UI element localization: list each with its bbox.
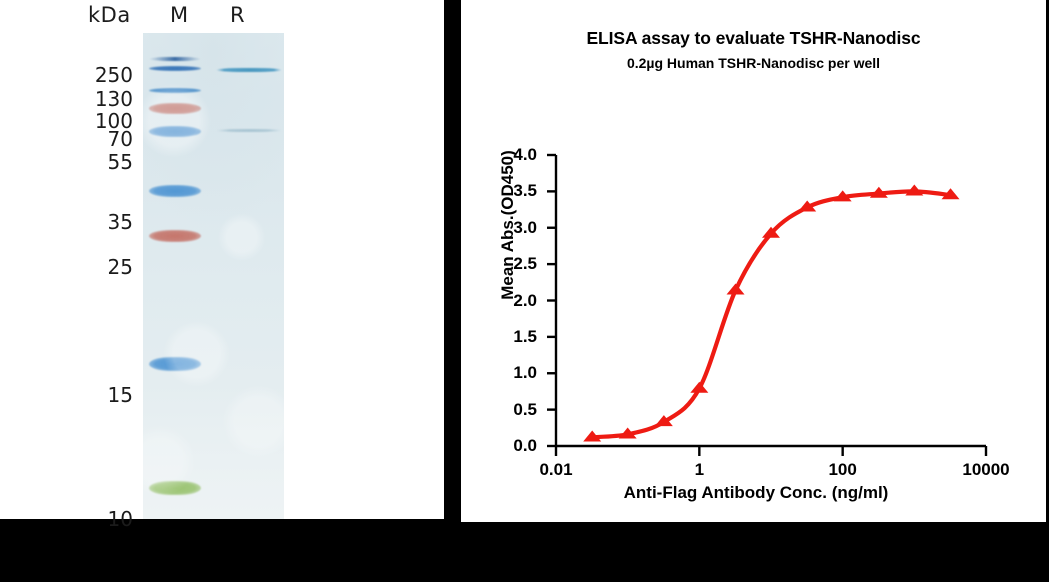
y-tick-label-1.5: 1.5 — [481, 328, 537, 345]
ladder-label-55: 55 — [108, 152, 133, 172]
gel-units-label: kDa — [88, 3, 131, 27]
elisa-plot-svg — [461, 0, 1046, 522]
ladder-label-35: 35 — [108, 212, 133, 232]
marker-band-10kda — [149, 481, 201, 495]
gel-lane-label-marker: M — [170, 3, 189, 27]
sample-band-130kda — [216, 68, 282, 72]
ladder-label-70: 70 — [108, 129, 133, 149]
elisa-chart-panel: ELISA assay to evaluate TSHR-Nanodisc 0.… — [461, 0, 1046, 522]
x-tick-label-10000: 10000 — [946, 461, 1026, 478]
ladder-label-10: 10 — [108, 509, 133, 529]
ladder-label-250: 250 — [95, 65, 133, 85]
ladder-label-25: 25 — [108, 257, 133, 277]
marker-band-15kda — [149, 357, 201, 371]
y-tick-label-3.5: 3.5 — [481, 182, 537, 199]
marker-band-25kda — [149, 230, 201, 242]
marker-band-upper-streak — [149, 57, 201, 61]
y-tick-label-0.5: 0.5 — [481, 401, 537, 418]
marker-band-130kda — [149, 66, 201, 71]
sds-page-gel-panel: kDa M R 250130100705535251510 — [0, 0, 444, 519]
gel-lane-label-sample: R — [230, 3, 245, 27]
y-tick-label-2.5: 2.5 — [481, 255, 537, 272]
y-tick-label-2.0: 2.0 — [481, 292, 537, 309]
gel-lane-header: kDa M R — [0, 0, 444, 32]
marker-band-35kda — [149, 185, 201, 197]
y-tick-label-3.0: 3.0 — [481, 219, 537, 236]
ladder-weight-labels: 250130100705535251510 — [0, 32, 140, 519]
marker-band-70kda — [149, 103, 201, 114]
x-tick-label-1: 1 — [659, 461, 739, 478]
y-tick-label-0.0: 0.0 — [481, 437, 537, 454]
y-tick-label-1.0: 1.0 — [481, 364, 537, 381]
plot-area: Mean Abs.(OD450) Anti-Flag Antibody Conc… — [461, 0, 1046, 522]
ladder-label-130: 130 — [95, 89, 133, 109]
x-tick-label-100: 100 — [803, 461, 883, 478]
ladder-label-15: 15 — [108, 385, 133, 405]
gel-image — [143, 33, 284, 519]
data-point-4 — [727, 283, 745, 294]
y-tick-label-4.0: 4.0 — [481, 146, 537, 163]
sample-band-faint — [216, 129, 282, 132]
marker-band-55kda — [149, 126, 201, 137]
data-point-3 — [690, 382, 708, 393]
marker-band-100kda — [149, 88, 201, 93]
x-tick-label-0.01: 0.01 — [516, 461, 596, 478]
x-axis-label: Anti-Flag Antibody Conc. (ng/ml) — [521, 483, 991, 503]
